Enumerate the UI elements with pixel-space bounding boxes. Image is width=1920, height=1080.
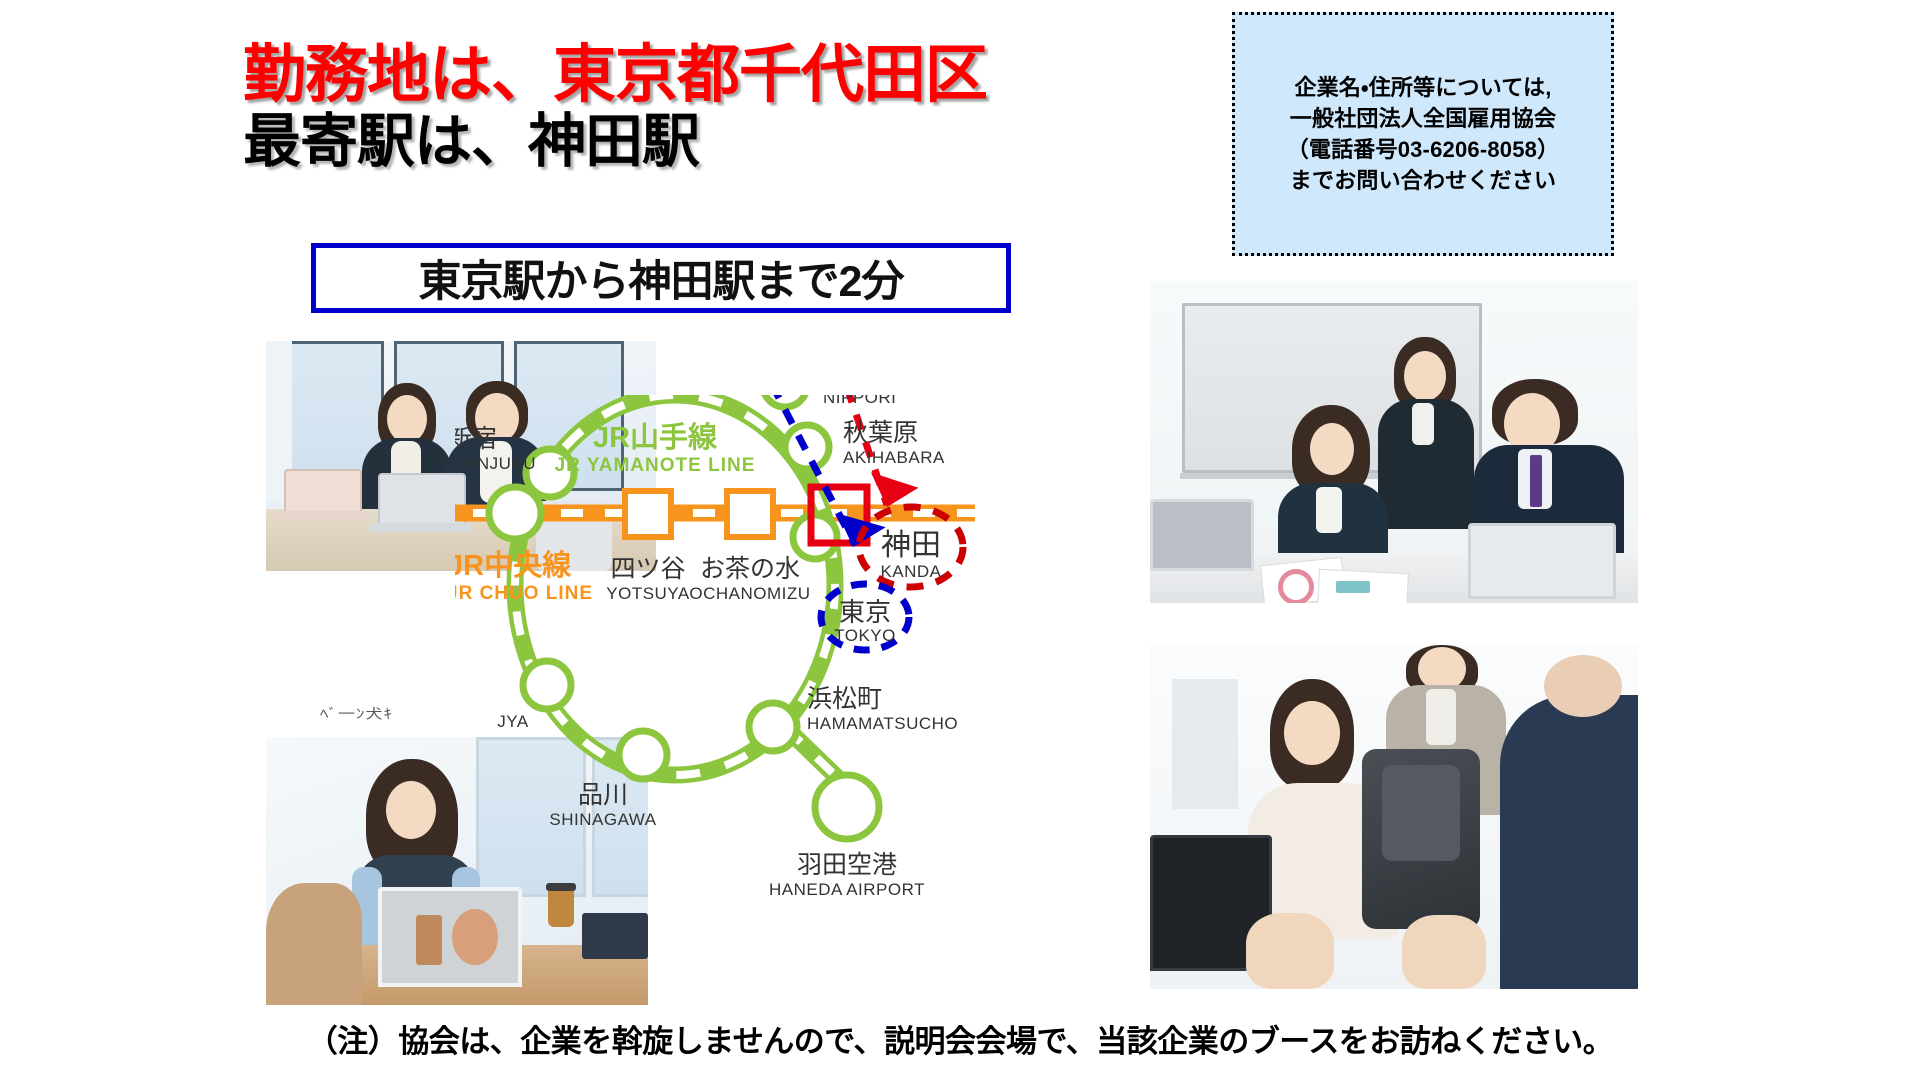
- station-label-shinagawa-en: SHINAGAWA: [549, 810, 656, 829]
- contact-line-3: （電話番号03-6206-8058）: [1287, 134, 1560, 165]
- station-label-kanda-ja: 神田: [881, 529, 941, 562]
- map-artifact-glyph: ﾍﾞ一ﾝ犬ｷ: [320, 703, 393, 723]
- station-label-kanda-en: KANDA: [880, 562, 941, 581]
- contact-line-2: 一般社団法人全国雇用協会: [1290, 103, 1556, 134]
- photo-job-interview: [1150, 645, 1638, 989]
- page-title-line-2: 最寄駅は、神田駅: [243, 111, 1143, 172]
- station-label-nippori-en: NIPPORI: [823, 395, 896, 407]
- route-time-banner-label: 東京駅から神田駅まで2分: [419, 247, 904, 309]
- station-label-hamamatsucho-ja: 浜松町: [807, 685, 882, 713]
- station-label-shinagawa-ja: 品川: [578, 781, 628, 809]
- contact-line-1: 企業名・住所等については,: [1294, 72, 1551, 103]
- station-label-tokyo-ja: 東京: [839, 597, 891, 627]
- station-label-ochanomizu-ja: お茶の水: [700, 555, 800, 583]
- station-label-yotsuya-en: YOTSUYA: [606, 584, 690, 603]
- line-label-yamanote-en: JR YAMANOTE LINE: [555, 455, 756, 476]
- jr-railway-map: JR山手線 JR YAMANOTE LINE JR中央線 JR CHUO LIN…: [455, 395, 1175, 1015]
- station-label-shinjuku-ja: 新宿: [455, 425, 497, 453]
- station-label-haneda-ja: 羽田空港: [797, 851, 897, 879]
- contact-info-box: 企業名・住所等については, 一般社団法人全国雇用協会 （電話番号03-6206-…: [1232, 12, 1614, 256]
- line-label-yamanote-ja: JR山手線: [593, 421, 718, 454]
- station-label-yotsuya-ja: 四ツ谷: [610, 555, 685, 583]
- contact-line-4: までお問い合わせください: [1290, 165, 1556, 196]
- photo-business-meeting: [1150, 281, 1638, 603]
- route-time-banner: 東京駅から神田駅まで2分: [311, 243, 1011, 313]
- page-title: 勤務地は、東京都千代田区 最寄駅は、神田駅: [243, 42, 1143, 172]
- station-label-shinjuku-en: SHINJUKU: [455, 454, 536, 473]
- page-title-line-1: 勤務地は、東京都千代田区: [243, 42, 1143, 109]
- station-label-shibuya-en: JYA: [497, 712, 529, 731]
- station-label-tokyo-en: TOKYO: [834, 626, 896, 645]
- line-label-chuo-ja: JR中央線: [455, 549, 572, 582]
- station-label-haneda-en: HANEDA AIRPORT: [769, 880, 925, 899]
- station-label-hamamatsucho-en: HAMAMATSUCHO: [807, 714, 958, 733]
- footer-note: （注）協会は、企業を斡旋しませんので、説明会会場で、当該企業のブースをお訪ねくだ…: [0, 1016, 1920, 1061]
- station-label-ochanomizu-en: OCHANOMIZU: [689, 584, 810, 603]
- line-label-chuo-en: JR CHUO LINE: [455, 583, 593, 604]
- station-label-akihabara-ja: 秋葉原: [843, 419, 918, 447]
- station-label-akihabara-en: AKIHABARA: [843, 448, 945, 467]
